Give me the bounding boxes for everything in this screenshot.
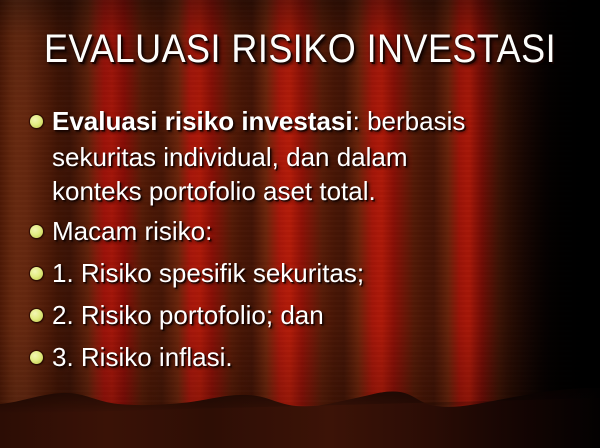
list-item: 2. Risiko portofolio; dan <box>30 298 558 332</box>
round-bullet-icon <box>30 267 43 280</box>
round-bullet-icon <box>30 225 43 238</box>
list-item-text: Macam risiko: <box>52 214 212 248</box>
list-item-text: Evaluasi risiko investasi: berbasis <box>52 104 465 138</box>
round-bullet-icon <box>30 115 43 128</box>
list-item-rest: : berbasis <box>353 106 466 136</box>
list-item-continuation: sekuritas individual, dan dalam <box>52 140 558 174</box>
list-item-text: 1. Risiko spesifik sekuritas; <box>52 256 364 290</box>
list-item-continuation: konteks portofolio aset total. <box>52 174 558 208</box>
round-bullet-icon <box>30 309 43 322</box>
list-item-text: 2. Risiko portofolio; dan <box>52 298 324 332</box>
list-item-text: 3. Risiko inflasi. <box>52 340 233 374</box>
presentation-slide: EVALUASI RISIKO INVESTASI Evaluasi risik… <box>0 0 600 448</box>
list-item-emphasis: Evaluasi risiko investasi <box>52 106 353 136</box>
page-title: EVALUASI RISIKO INVESTASI <box>30 26 570 72</box>
round-bullet-icon <box>30 351 43 364</box>
bullet-list: Evaluasi risiko investasi: berbasis seku… <box>30 104 558 376</box>
list-item: 3. Risiko inflasi. <box>30 340 558 374</box>
list-item: Macam risiko: <box>30 214 558 248</box>
list-item: Evaluasi risiko investasi: berbasis <box>30 104 558 138</box>
list-item: 1. Risiko spesifik sekuritas; <box>30 256 558 290</box>
